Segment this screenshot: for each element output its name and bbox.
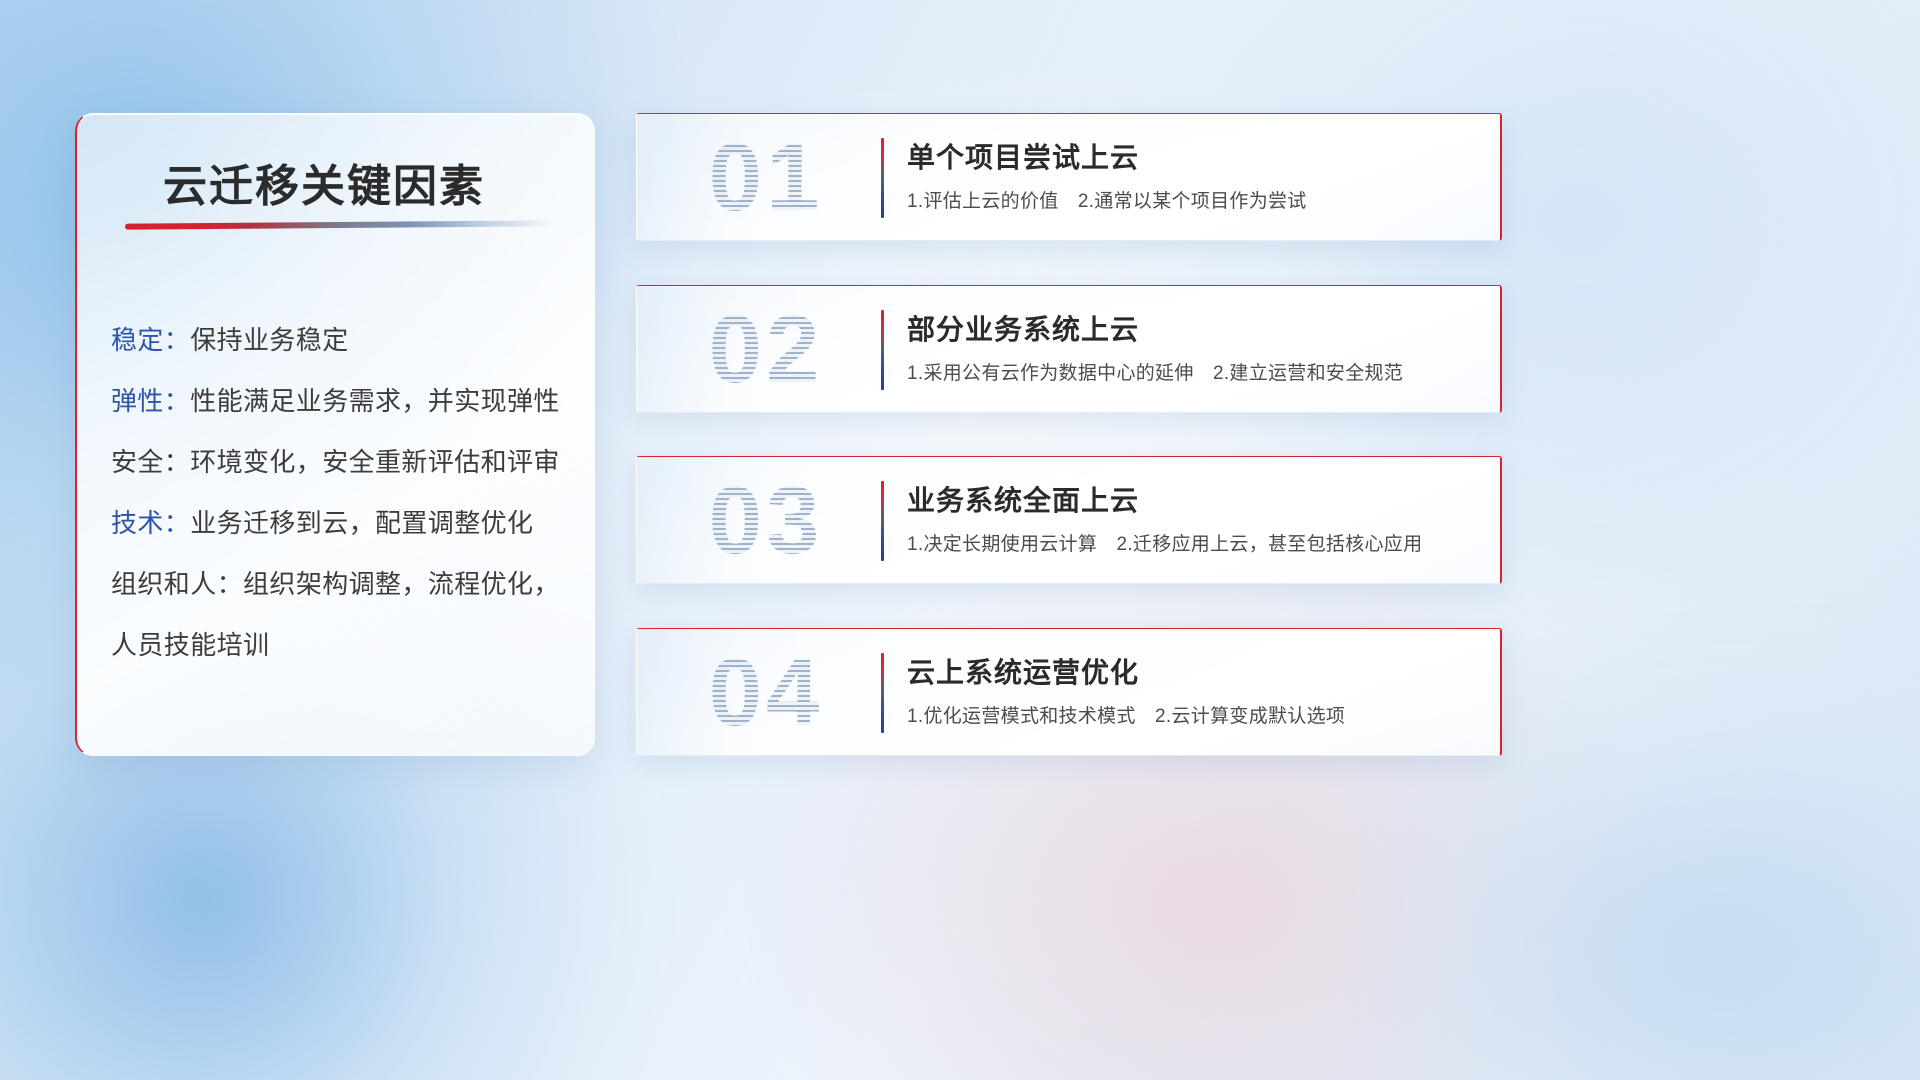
list-item-label: 弹性： bbox=[111, 386, 190, 416]
list-item: 弹性：性能满足业务需求，并实现弹性 bbox=[111, 371, 581, 432]
list-item-label: 组织和人： bbox=[111, 569, 243, 599]
step-subtitle: 1.采用公有云作为数据中心的延伸 2.建立运营和安全规范 bbox=[907, 358, 1403, 385]
step-divider-accent bbox=[881, 481, 884, 561]
list-item-text: 业务迁移到云，配置调整优化 bbox=[190, 508, 533, 538]
step-subtitle: 1.优化运营模式和技术模式 2.云计算变成默认选项 bbox=[907, 701, 1345, 728]
list-item-text: 保持业务稳定 bbox=[190, 325, 348, 355]
list-item-label: 稳定： bbox=[111, 325, 190, 355]
step-title: 云上系统运营优化 bbox=[907, 651, 1139, 691]
step-number: 04 bbox=[661, 635, 871, 751]
step-divider-accent bbox=[881, 138, 884, 218]
step-subtitle: 1.决定长期使用云计算 2.迁移应用上云，甚至包括核心应用 bbox=[907, 529, 1422, 556]
step-title: 业务系统全面上云 bbox=[907, 479, 1139, 519]
step-title: 单个项目尝试上云 bbox=[907, 136, 1139, 176]
key-factors-list: 稳定：保持业务稳定 弹性：性能满足业务需求，并实现弹性 安全：环境变化，安全重新… bbox=[111, 310, 581, 676]
slide-stage: 云迁移关键因素 稳定：保持业务稳定 弹性：性能满足业务需求，并实现弹性 安全：环… bbox=[0, 0, 1920, 1080]
list-item: 组织和人：组织架构调整，流程优化， bbox=[111, 554, 581, 615]
list-item: 稳定：保持业务稳定 bbox=[111, 310, 581, 371]
title-underline-accent bbox=[125, 220, 555, 229]
list-item-text: 环境变化，安全重新评估和评审 bbox=[190, 447, 560, 477]
key-factors-card: 云迁移关键因素 稳定：保持业务稳定 弹性：性能满足业务需求，并实现弹性 安全：环… bbox=[75, 113, 595, 756]
list-item-text: 性能满足业务需求，并实现弹性 bbox=[190, 386, 560, 416]
step-divider-accent bbox=[881, 653, 884, 733]
step-number: 03 bbox=[661, 463, 871, 579]
step-card[interactable]: 01 01 单个项目尝试上云 1.评估上云的价值 2.通常以某个项目作为尝试 bbox=[636, 113, 1502, 241]
step-number: 01 bbox=[661, 120, 871, 236]
step-divider-accent bbox=[881, 310, 884, 390]
list-item: 人员技能培训 bbox=[111, 615, 581, 676]
list-item-label: 技术： bbox=[111, 508, 190, 538]
list-item-text: 人员技能培训 bbox=[111, 630, 269, 660]
step-card[interactable]: 04 04 云上系统运营优化 1.优化运营模式和技术模式 2.云计算变成默认选项 bbox=[636, 628, 1502, 756]
list-item-label: 安全： bbox=[111, 447, 190, 477]
list-item-text: 组织架构调整，流程优化， bbox=[243, 569, 560, 599]
key-factors-title: 云迁移关键因素 bbox=[163, 150, 485, 214]
step-number: 02 bbox=[661, 292, 871, 408]
list-item: 技术：业务迁移到云，配置调整优化 bbox=[111, 493, 581, 554]
step-subtitle: 1.评估上云的价值 2.通常以某个项目作为尝试 bbox=[907, 186, 1307, 213]
step-card[interactable]: 02 02 部分业务系统上云 1.采用公有云作为数据中心的延伸 2.建立运营和安… bbox=[636, 285, 1502, 413]
step-card[interactable]: 03 03 业务系统全面上云 1.决定长期使用云计算 2.迁移应用上云，甚至包括… bbox=[636, 456, 1502, 584]
step-title: 部分业务系统上云 bbox=[907, 308, 1139, 348]
list-item: 安全：环境变化，安全重新评估和评审 bbox=[111, 432, 581, 493]
